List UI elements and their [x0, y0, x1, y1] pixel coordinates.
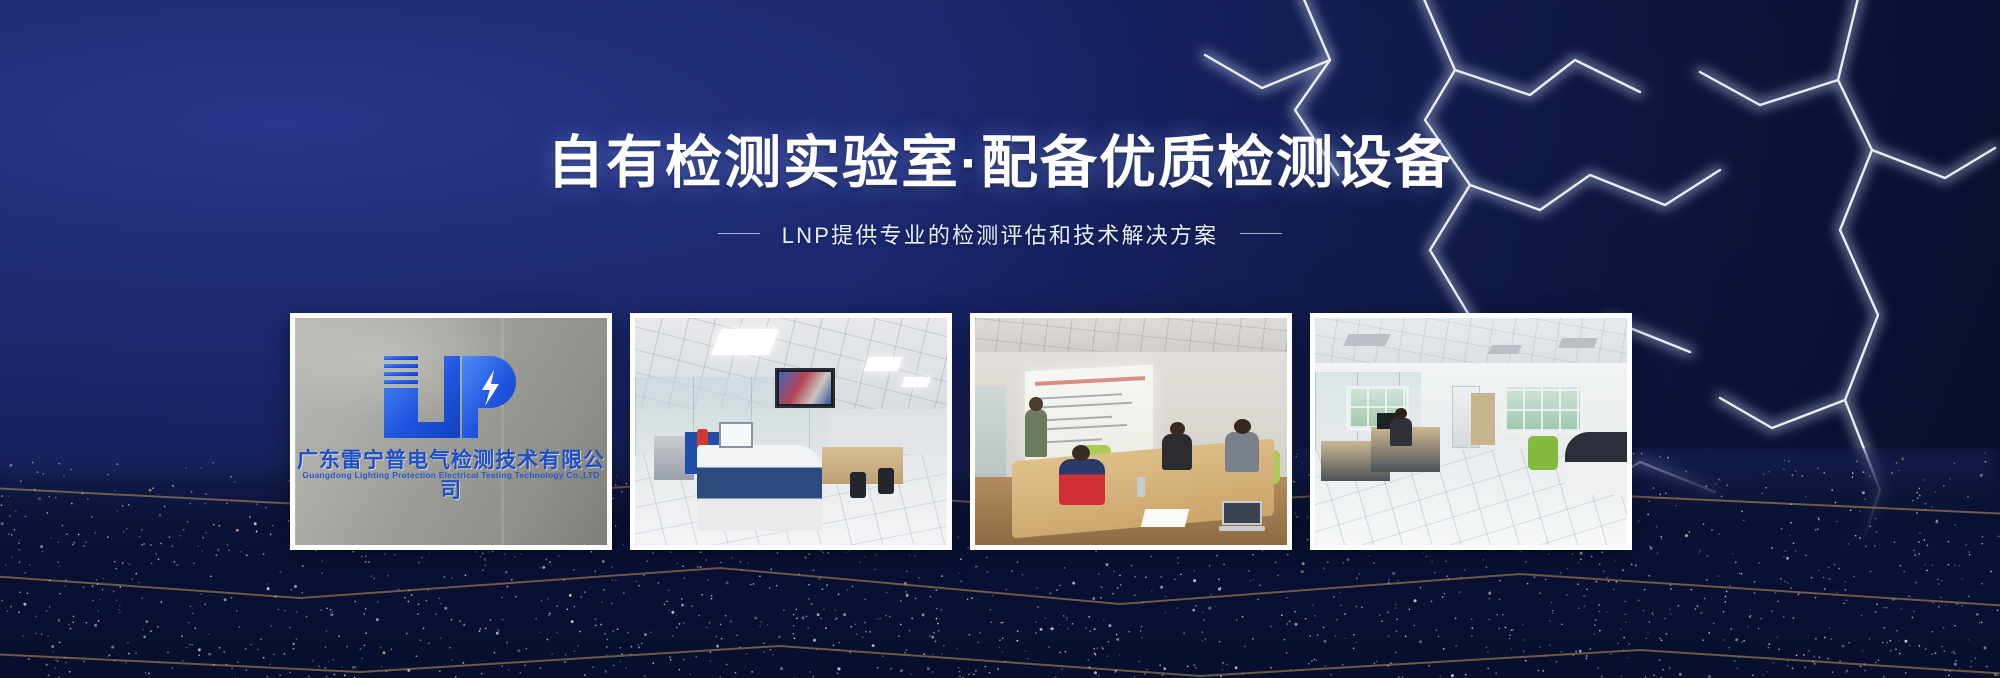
control-console [697, 445, 822, 531]
ceiling-light-panel [902, 377, 931, 387]
lab-scene [635, 318, 947, 545]
ceiling-light-panel [711, 329, 780, 355]
wooden-shelf [1471, 393, 1495, 445]
console-monitor [719, 422, 753, 448]
gallery-photo-meeting-room[interactable] [970, 313, 1292, 550]
glass-door [975, 386, 1006, 481]
laptop-computer [1219, 501, 1265, 531]
working-person [1390, 418, 1412, 446]
left-rule-decoration [718, 233, 760, 234]
subtitle-row: LNP提供专业的检测评估和技术解决方案 [0, 218, 2000, 250]
drink-cup [1137, 477, 1145, 497]
photo-gallery: 广东雷宁普电气检测技术有限公司 Guangdong Lighting Prote… [290, 313, 1632, 550]
page-title: 自有检测实验室·配备优质检测设备 [0, 132, 2000, 196]
gallery-photo-office-area[interactable] [1310, 313, 1632, 550]
slide-title-bar [1035, 376, 1145, 386]
ceiling-vent [1488, 345, 1522, 354]
ceiling-vent [1343, 334, 1391, 346]
green-visitor-chair [1528, 436, 1558, 470]
window [1502, 384, 1583, 434]
meeting-scene [975, 318, 1287, 545]
hero-banner: 自有检测实验室·配备优质检测设备 LNP提供专业的检测评估和技术解决方案 [0, 0, 2000, 678]
wall-mounted-tv [775, 368, 835, 408]
hero-copy: 自有检测实验室·配备优质检测设备 LNP提供专业的检测评估和技术解决方案 [0, 132, 2000, 250]
office-chair [878, 468, 894, 494]
office-chair [850, 472, 866, 498]
reception-counter [1565, 432, 1627, 496]
gallery-photo-testing-lab[interactable] [630, 313, 952, 550]
attendee-person [1059, 459, 1105, 505]
page-subtitle: LNP提供专业的检测评估和技术解决方案 [782, 218, 1219, 250]
ceiling-light-panel [863, 357, 902, 371]
attendee-person [1162, 434, 1192, 470]
presenter-person [1025, 409, 1047, 457]
office-scene [1315, 318, 1627, 545]
gallery-photo-company-sign[interactable]: 广东雷宁普电气检测技术有限公司 Guangdong Lighting Prote… [290, 313, 612, 550]
documents [1141, 509, 1189, 527]
ceiling-vent [1558, 338, 1598, 348]
company-name-en: Guangdong Lighting Protection Electrical… [295, 470, 607, 480]
lnp-logo-icon [376, 348, 526, 440]
attendee-person [1225, 432, 1259, 472]
right-rule-decoration [1240, 233, 1282, 234]
